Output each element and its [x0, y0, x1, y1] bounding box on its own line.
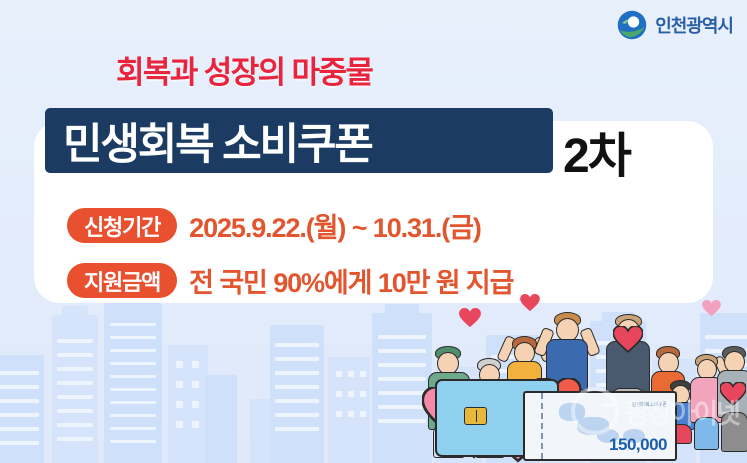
skyline-building: [0, 355, 44, 463]
skyline-building: [168, 345, 208, 463]
org-name: 인천광역시: [655, 12, 733, 38]
promo-banner: 인천광역시 회복과 성장의 마중물 민생회복 소비쿠폰 2차 신청기간 2025…: [0, 0, 747, 463]
label-pill-period: 신청기간: [67, 208, 177, 243]
heart-icon: [720, 382, 746, 406]
voucher-note-caption: 민생회복소비쿠폰: [632, 401, 667, 408]
phase-label: 2차: [563, 116, 630, 186]
value-amount: 전 국민 90%에게 10만 원 지급: [189, 261, 513, 300]
banner-title-band: 민생회복 소비쿠폰: [45, 108, 553, 173]
label-pill-amount: 지원금액: [67, 263, 177, 298]
skyline-building: [328, 357, 370, 463]
skyline-building: [270, 325, 324, 463]
voucher-note: 민생회복소비쿠폰 150,000: [523, 391, 677, 461]
celebration-illustration: 민생회복소비쿠폰 150,000: [417, 298, 747, 463]
skyline-building: [205, 375, 237, 463]
heart-icon: [459, 308, 481, 328]
skyline-building: [104, 303, 162, 463]
info-row-amount: 지원금액 전 국민 90%에게 10만 원 지급: [67, 261, 513, 300]
incheon-swirl-icon: [617, 10, 647, 40]
heart-icon: [613, 326, 643, 353]
value-period: 2025.9.22.(월) ~ 10.31.(금): [189, 206, 481, 245]
info-row-period: 신청기간 2025.9.22.(월) ~ 10.31.(금): [67, 206, 481, 245]
person-figure: [717, 346, 747, 450]
voucher-amount: 150,000: [609, 435, 667, 455]
skyline-building: [52, 315, 98, 463]
incheon-logo: 인천광역시: [617, 10, 733, 40]
kicker-headline: 회복과 성장의 마중물: [116, 47, 372, 92]
skyline-building: [250, 399, 272, 463]
card-chip-icon: [464, 407, 487, 425]
voucher-stub: [525, 393, 543, 459]
banner-title: 민생회복 소비쿠폰: [63, 110, 372, 172]
heart-icon: [520, 294, 540, 312]
heart-icon: [702, 300, 721, 317]
